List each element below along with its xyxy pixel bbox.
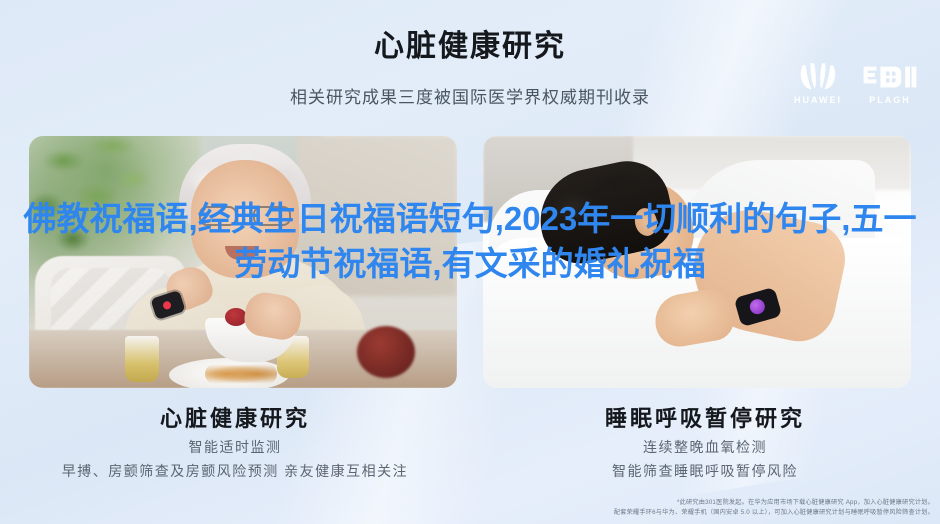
photo-drink-glass-left bbox=[125, 336, 159, 382]
legal-footnote: *此研究由301医院发起。在华为应用市场下载心脏健康研究 App，加入心脏健康研… bbox=[464, 498, 934, 518]
caption-sleep-apnea: 睡眠呼吸暂停研究 连续整晚血氧检测 智能筛查睡眠呼吸暂停风险 bbox=[470, 404, 940, 482]
photo-fruit bbox=[357, 326, 415, 378]
caption-row: 心脏健康研究 智能适时监测 早搏、房颤筛查及房颤风险预测 亲友健康互相关注 睡眠… bbox=[0, 404, 940, 482]
plagh-logo-block: PLAGH bbox=[862, 62, 918, 105]
caption-title: 睡眠呼吸暂停研究 bbox=[480, 404, 930, 434]
footnote-line-1: *此研究由301医院发起。在华为应用市场下载心脏健康研究 App，加入心脏健康研… bbox=[464, 498, 934, 508]
photo-food bbox=[205, 364, 277, 384]
banner-header: 心脏健康研究 相关研究成果三度被国际医学界权威期刊收录 HUAWEI bbox=[0, 0, 940, 130]
watermark-overlay-text: 佛教祝福语,经典生日祝福语短句,2023年一切顺利的句子,五一劳动节祝福语,有文… bbox=[0, 196, 940, 286]
caption-line-1: 连续整晚血氧检测 bbox=[480, 436, 930, 458]
plagh-301-icon bbox=[862, 62, 918, 92]
partner-logos: HUAWEI PLAGH bbox=[792, 62, 918, 105]
huawei-flower-icon bbox=[792, 62, 844, 92]
promo-banner-page: 心脏健康研究 相关研究成果三度被国际医学界权威期刊收录 HUAWEI bbox=[0, 0, 940, 524]
footnote-line-2: 配套荣耀手环6与华为、荣耀手机（国内安卓 5.0 以上），可加入心脏健康研究计划… bbox=[464, 508, 934, 518]
caption-line-2: 智能筛查睡眠呼吸暂停风险 bbox=[480, 460, 930, 482]
caption-heart-health: 心脏健康研究 智能适时监测 早搏、房颤筛查及房颤风险预测 亲友健康互相关注 bbox=[0, 404, 470, 482]
caption-line-2: 早搏、房颤筛查及房颤风险预测 亲友健康互相关注 bbox=[10, 460, 460, 482]
caption-line-1: 智能适时监测 bbox=[10, 436, 460, 458]
page-title: 心脏健康研究 bbox=[0, 30, 940, 63]
caption-title: 心脏健康研究 bbox=[10, 404, 460, 434]
huawei-wordmark: HUAWEI bbox=[794, 95, 842, 105]
huawei-logo-block: HUAWEI bbox=[792, 62, 844, 105]
plagh-wordmark: PLAGH bbox=[869, 95, 911, 105]
